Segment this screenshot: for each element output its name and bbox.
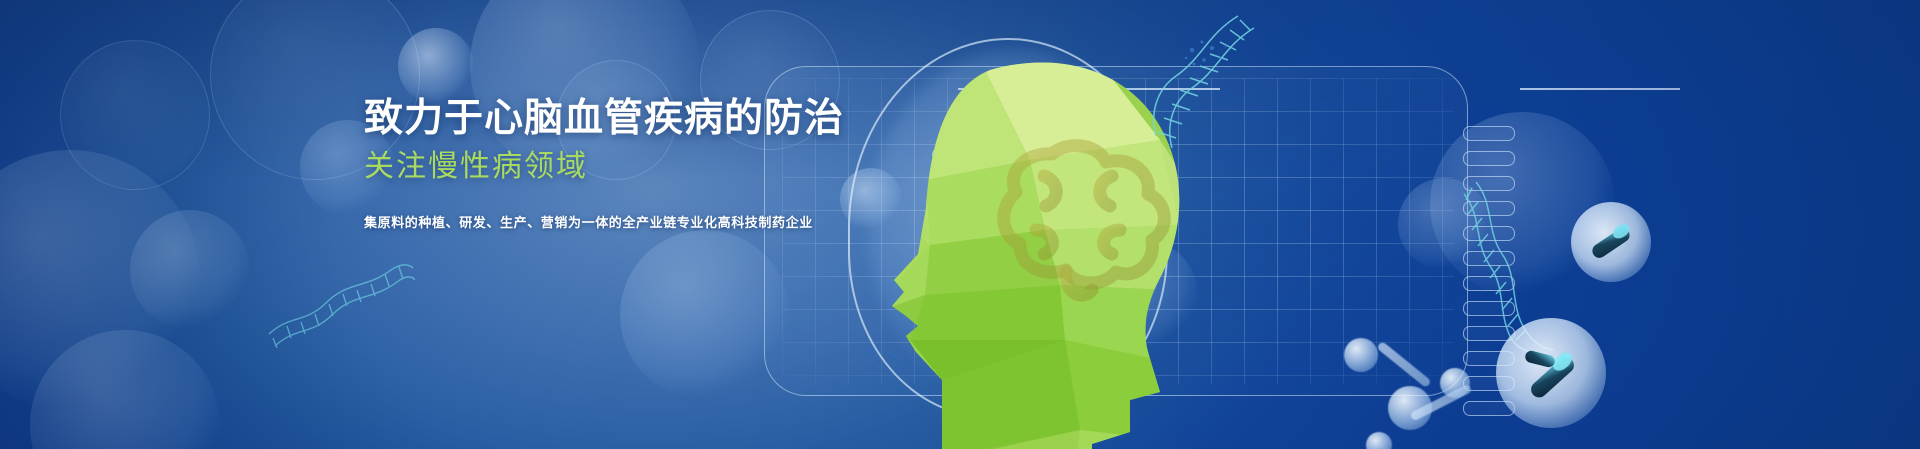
page-tagline: 集原料的种植、研发、生产、营销为一体的全产业链专业化高科技制药企业 <box>364 213 1004 233</box>
page-title: 致力于心脑血管疾病的防治 <box>364 96 1004 142</box>
hero-banner: 致力于心脑血管疾病的防治 关注慢性病领域 集原料的种植、研发、生产、营销为一体的… <box>0 0 1920 449</box>
page-subtitle: 关注慢性病领域 <box>364 148 1004 186</box>
banner-copy: 致力于心脑血管疾病的防治 关注慢性病领域 集原料的种植、研发、生产、营销为一体的… <box>364 96 1004 233</box>
